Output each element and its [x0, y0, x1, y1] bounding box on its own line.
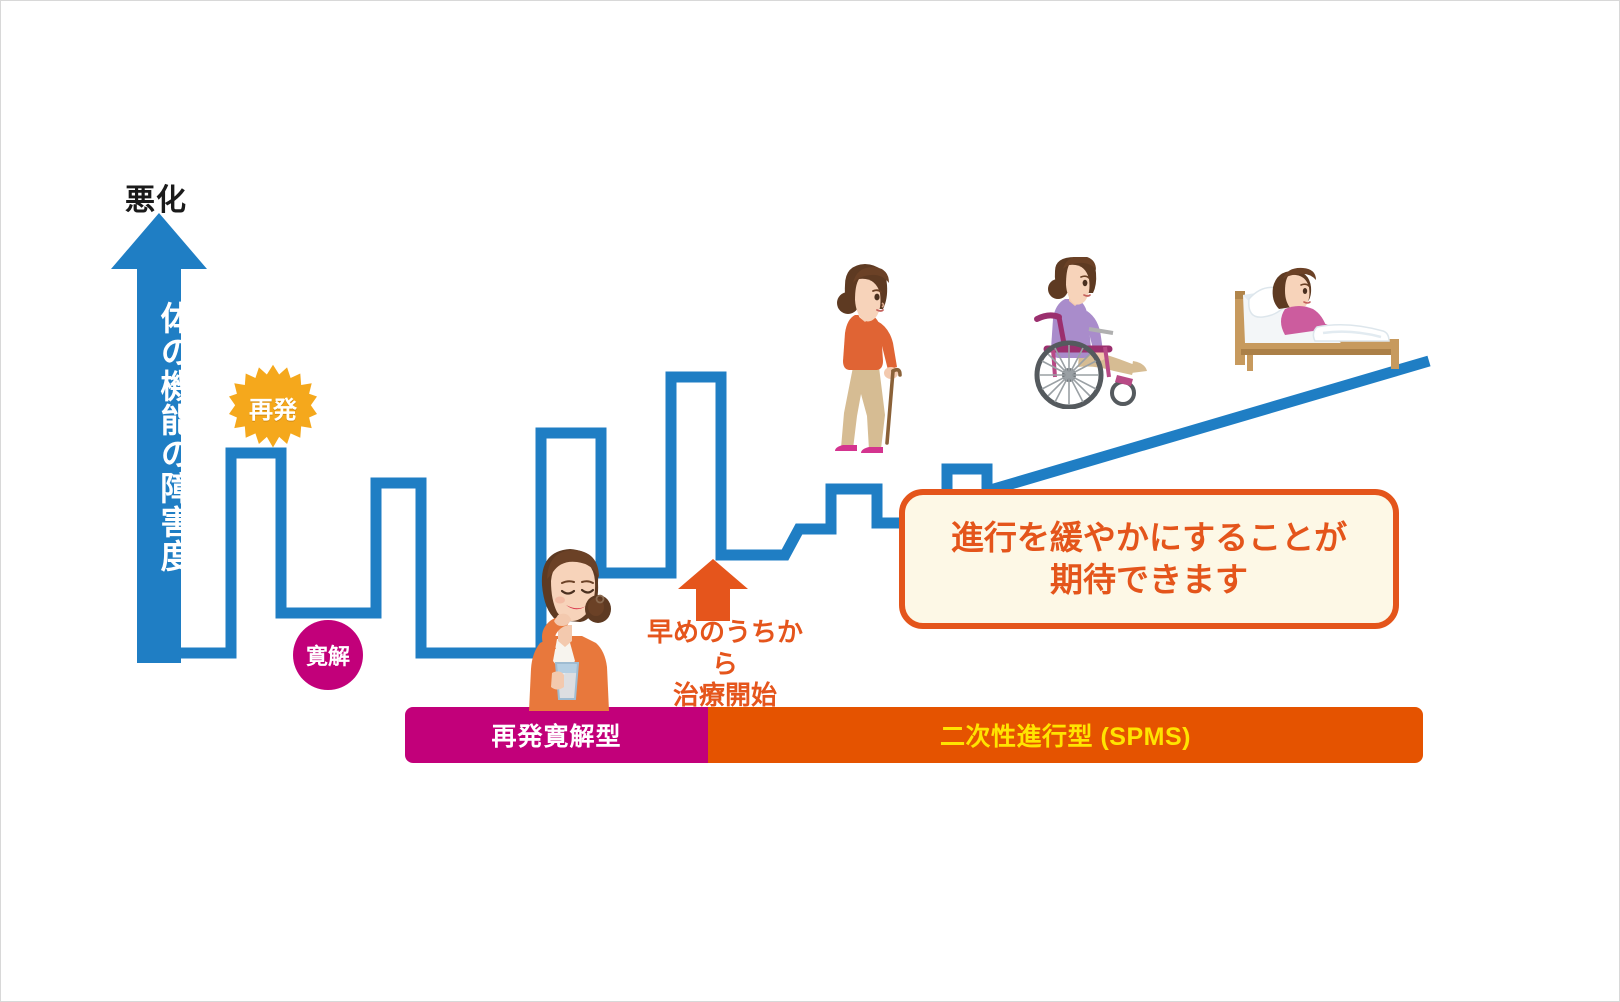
progression-callout-line-1: 進行を緩やかにすることが: [951, 517, 1347, 559]
relapse-badge-label: 再発: [229, 363, 317, 451]
up-arrow-icon: [678, 559, 748, 621]
progression-callout-text: 進行を緩やかにすることが 期待できます: [951, 517, 1347, 601]
woman-in-wheelchair-illustration: [1013, 257, 1149, 409]
woman-walking-with-cane-illustration: [815, 263, 913, 457]
relapse-badge: 再発: [229, 363, 317, 451]
woman-taking-medication-illustration: [510, 535, 628, 711]
early-treatment-line-1: 早めのうちから: [635, 617, 815, 680]
remission-badge: 寛解: [293, 620, 363, 690]
remission-badge-label: 寛解: [306, 639, 350, 671]
phase-segment-spms: 二次性進行型 (SPMS): [708, 707, 1423, 763]
progression-callout-line-2: 期待できます: [951, 559, 1347, 601]
worsening-label: 悪化: [125, 175, 187, 219]
early-treatment-annotation: 早めのうちから 治療開始: [635, 617, 815, 712]
progression-callout-box: 進行を緩やかにすることが 期待できます: [899, 489, 1399, 629]
woman-in-bed-illustration: [1213, 265, 1403, 375]
infographic-page: 体の機能の障害度 悪化 再発 寛解 早めのうちから 治療開始 進行を緩やかにする…: [0, 0, 1620, 1002]
phase-segment-rrms: 再発寛解型: [405, 707, 708, 763]
phase-legend-bar: 再発寛解型 二次性進行型 (SPMS): [405, 707, 1423, 763]
